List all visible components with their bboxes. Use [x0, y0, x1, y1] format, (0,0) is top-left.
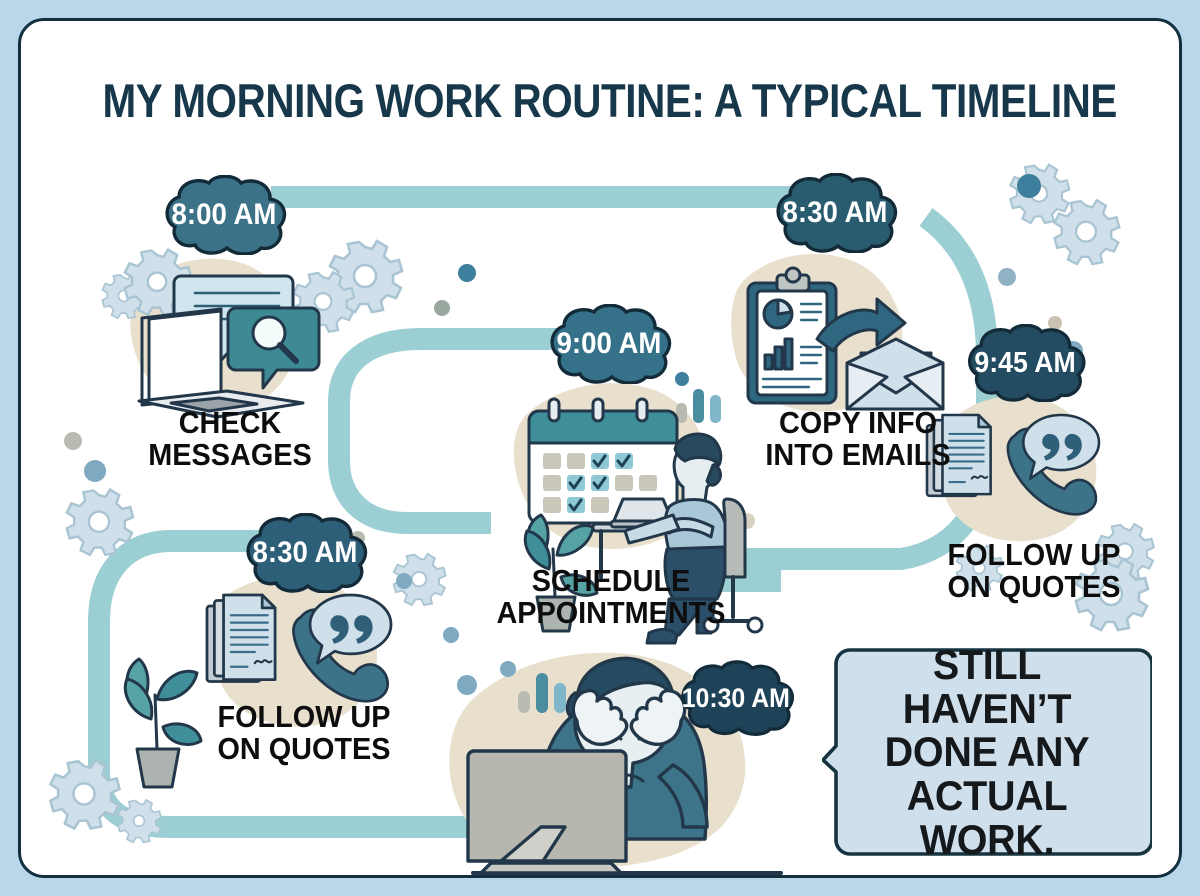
step-label-schedule-appointments: SCHEDULE APPOINTMENTS	[490, 565, 732, 628]
step-label-follow-up-left: FOLLOW UP ON QUOTES	[197, 701, 411, 764]
punchline-text: STILL HAVEN’T DONE ANY ACTUAL WORK.	[832, 648, 1142, 856]
step-label-copy-info-into-emails: COPY INFO INTO EMAILS	[742, 407, 975, 470]
time-bubble-label: 8:30 AM	[253, 536, 358, 570]
step-label-check-messages: CHECK MESSAGES	[114, 407, 347, 470]
time-bubble-8-30-bottom[interactable]: 8:30 AM	[229, 513, 381, 593]
time-bubble-label: 9:00 AM	[557, 327, 662, 361]
time-bubble-9-45[interactable]: 9:45 AM	[952, 324, 1098, 402]
poster-card: MY MORNING WORK ROUTINE: A TYPICAL TIMEL…	[18, 18, 1182, 878]
step-label-follow-up-right: FOLLOW UP ON QUOTES	[927, 539, 1141, 602]
time-bubble-label: 8:00 AM	[172, 198, 277, 232]
punchline-balloon[interactable]: STILL HAVEN’T DONE ANY ACTUAL WORK.	[822, 648, 1152, 856]
infographic-poster: MY MORNING WORK ROUTINE: A TYPICAL TIMEL…	[0, 0, 1200, 896]
time-bubble-9-00[interactable]: 9:00 AM	[533, 304, 685, 384]
time-bubble-label: 8:30 AM	[783, 196, 888, 230]
time-bubble-8-30-top[interactable]: 8:30 AM	[759, 173, 911, 253]
time-bubble-label: 9:45 AM	[974, 347, 1075, 380]
time-bubble-10-30[interactable]: 10:30 AM	[666, 660, 806, 736]
time-bubble-label: 10:30 AM	[682, 683, 790, 714]
time-bubble-8-00[interactable]: 8:00 AM	[149, 175, 299, 255]
